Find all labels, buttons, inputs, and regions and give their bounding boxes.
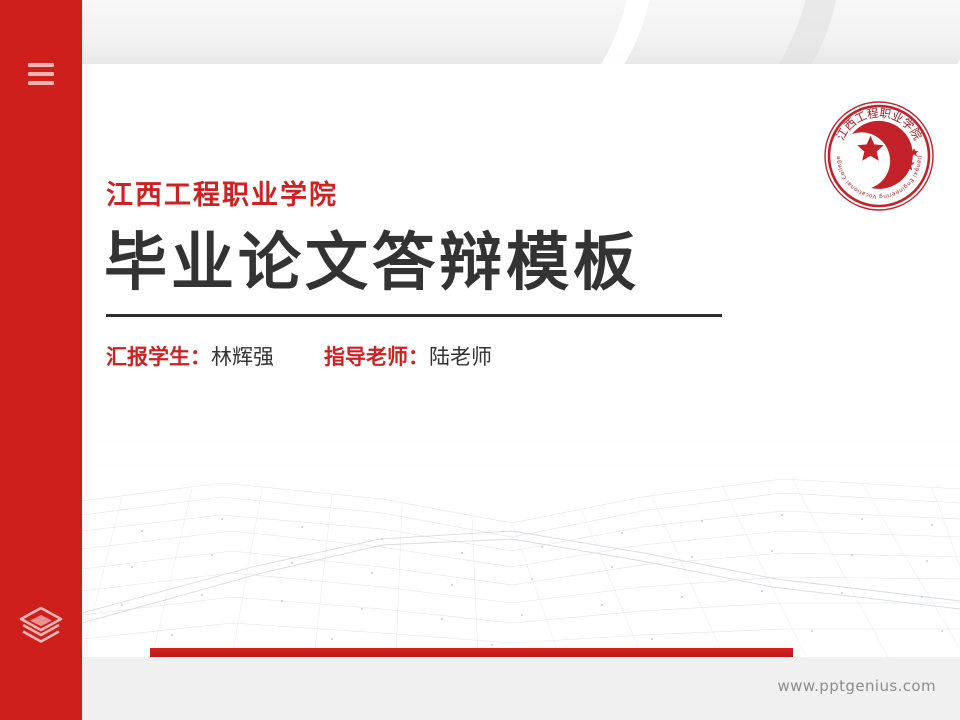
hamburger-line-1 [28, 63, 54, 67]
advisor-credit: 指导老师：陆老师 [324, 347, 492, 368]
hamburger-menu-icon[interactable] [28, 63, 54, 85]
advisor-value: 陆老师 [429, 345, 492, 369]
presenter-credit: 汇报学生：林辉强 [106, 347, 274, 368]
presenter-label: 汇报学生： [106, 345, 211, 369]
hamburger-line-2 [28, 72, 54, 76]
school-name: 江西工程职业学院 [106, 182, 864, 209]
title-divider [106, 314, 722, 317]
card-bottom-red-bar [150, 648, 793, 657]
backdrop-top-band [0, 0, 960, 66]
presenter-value: 林辉强 [211, 345, 274, 369]
mesh-terrain-graphic [82, 427, 960, 657]
slide-stage: 江西工程职业学院 Jiangxi Engineering Vocational … [0, 0, 960, 720]
hamburger-line-3 [28, 81, 54, 85]
footer-website: www.pptgenius.com [778, 677, 936, 695]
advisor-label: 指导老师： [324, 345, 429, 369]
credits-row: 汇报学生：林辉强 指导老师：陆老师 [106, 347, 864, 368]
layers-stack-icon[interactable] [18, 604, 64, 646]
title-block: 江西工程职业学院 毕业论文答辩模板 汇报学生：林辉强 指导老师：陆老师 [104, 182, 864, 368]
page-title: 毕业论文答辩模板 [104, 231, 864, 294]
left-red-rail [0, 0, 82, 720]
